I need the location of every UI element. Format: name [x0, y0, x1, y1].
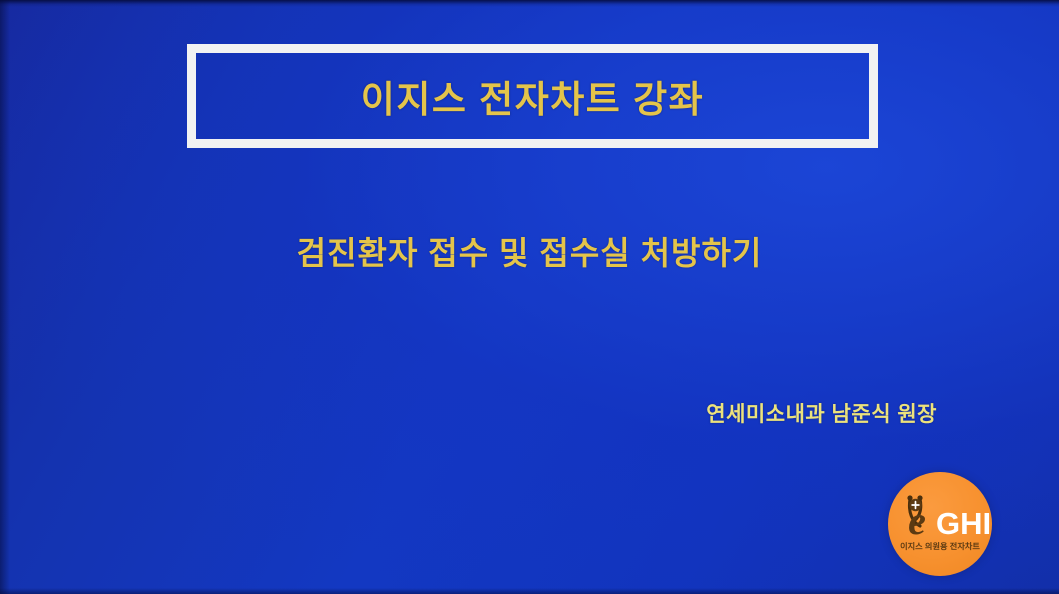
left-edge-shadow	[0, 0, 10, 594]
top-edge-shadow	[0, 0, 1059, 7]
logo-wordmark: GHIS	[936, 506, 992, 541]
logo-letter-e: e	[908, 498, 926, 543]
title-box: 이지스 전자차트 강좌	[187, 44, 878, 148]
logo-tagline: 이지스 의원용 전자차트	[900, 541, 980, 551]
page-title: 이지스 전자차트 강좌	[361, 69, 704, 123]
eghis-logo-icon: e GHIS 이지스 의원용 전자차트	[888, 472, 992, 576]
presentation-slide: 이지스 전자차트 강좌 검진환자 접수 및 접수실 처방하기 연세미소내과 남준…	[0, 0, 1059, 594]
bottom-edge-shadow	[0, 588, 1059, 594]
presenter-credit: 연세미소내과 남준식 원장	[706, 398, 937, 428]
slide-subtitle: 검진환자 접수 및 접수실 처방하기	[0, 228, 1059, 274]
eghis-logo-badge: e GHIS 이지스 의원용 전자차트	[888, 472, 992, 576]
